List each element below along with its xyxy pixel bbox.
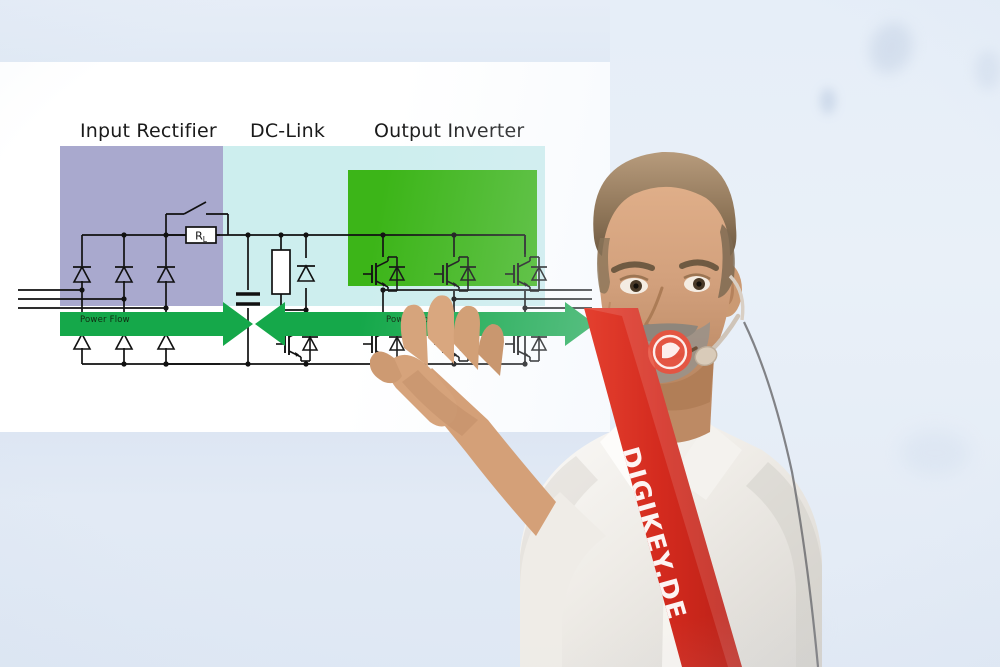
label-dc-link: DC-Link <box>250 120 325 142</box>
hair-temple-left <box>597 238 610 294</box>
eye-right-pupil <box>696 281 701 286</box>
eye-left-pupil <box>633 283 638 288</box>
label-power-flow-left: Power Flow <box>80 315 130 325</box>
brake-resistor-body <box>272 250 290 294</box>
finger-2 <box>427 295 454 364</box>
background-blur-spot <box>820 88 836 114</box>
label-input-rectifier: Input Rectifier <box>80 120 217 142</box>
background-blur-spot <box>900 430 970 476</box>
presenter-photo: DIGIKEY.DE <box>370 120 890 667</box>
thumb <box>370 351 402 383</box>
background-blur-spot <box>975 50 1000 90</box>
finger-3 <box>454 306 480 370</box>
finger-4 <box>478 324 504 376</box>
